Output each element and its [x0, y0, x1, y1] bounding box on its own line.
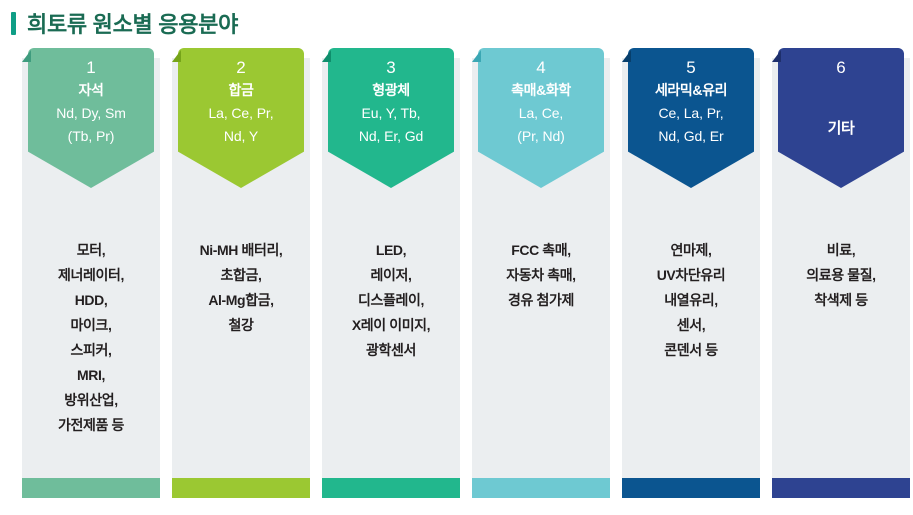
- application-column-1[interactable]: 1자석Nd, Dy, Sm(Tb, Pr)모터,제너레이터,HDD,마이크,스피…: [22, 48, 160, 515]
- column-number: 1: [28, 57, 154, 79]
- application-column-3[interactable]: 3형광체Eu, Y, Tb,Nd, Er, GdLED,레이저,디스플레이,X레…: [322, 48, 460, 515]
- page-title: 희토류 원소별 응용분야: [27, 7, 238, 39]
- list-item: 디스플레이,: [322, 288, 460, 313]
- column-category-label: 촉매&화학: [478, 79, 604, 102]
- column-number: 4: [478, 57, 604, 79]
- column-item-list: Ni-MH 배터리,초합금,Al-Mg합금,철강: [172, 238, 310, 338]
- list-item: 방위산업,: [22, 388, 160, 413]
- column-element-line: Nd, Er, Gd: [328, 125, 454, 148]
- column-number: 6: [778, 57, 904, 79]
- column-footer-bar: [22, 478, 160, 498]
- column-item-list: LED,레이저,디스플레이,X레이 이미지,광학센서: [322, 238, 460, 363]
- column-item-list: 비료,의료용 물질,착색제 등: [772, 238, 910, 313]
- list-item: 마이크,: [22, 313, 160, 338]
- column-number: 5: [628, 57, 754, 79]
- list-item: HDD,: [22, 288, 160, 313]
- column-footer-bar: [472, 478, 610, 498]
- column-category-label: 자석: [28, 79, 154, 102]
- list-item: Ni-MH 배터리,: [172, 238, 310, 263]
- application-column-5[interactable]: 5세라믹&유리Ce, La, Pr,Nd, Gd, Er연마제,UV차단유리내열…: [622, 48, 760, 515]
- list-item: 내열유리,: [622, 288, 760, 313]
- application-column-6[interactable]: 6기타비료,의료용 물질,착색제 등: [772, 48, 910, 515]
- list-item: FCC 촉매,: [472, 238, 610, 263]
- list-item: 비료,: [772, 238, 910, 263]
- list-item: 착색제 등: [772, 288, 910, 313]
- list-item: 초합금,: [172, 263, 310, 288]
- list-item: LED,: [322, 238, 460, 263]
- application-column-2[interactable]: 2합금La, Ce, Pr,Nd, YNi-MH 배터리,초합금,Al-Mg합금…: [172, 48, 310, 515]
- list-item: 광학센서: [322, 338, 460, 363]
- list-item: UV차단유리: [622, 263, 760, 288]
- column-number: 3: [328, 57, 454, 79]
- column-item-list: 연마제,UV차단유리내열유리,센서,콘덴서 등: [622, 238, 760, 363]
- column-element-line: La, Ce, Pr,: [178, 102, 304, 125]
- list-item: 자동차 촉매,: [472, 263, 610, 288]
- column-category-label: 기타: [778, 117, 904, 140]
- list-item: 연마제,: [622, 238, 760, 263]
- column-element-line: Nd, Dy, Sm: [28, 102, 154, 125]
- list-item: 제너레이터,: [22, 263, 160, 288]
- column-footer-bar: [172, 478, 310, 498]
- column-footer-bar: [322, 478, 460, 498]
- column-element-line: (Tb, Pr): [28, 125, 154, 148]
- column-footer-bar: [622, 478, 760, 498]
- column-item-list: FCC 촉매,자동차 촉매,경유 첨가제: [472, 238, 610, 313]
- column-element-line: (Pr, Nd): [478, 125, 604, 148]
- column-element-line: Eu, Y, Tb,: [328, 102, 454, 125]
- list-item: 의료용 물질,: [772, 263, 910, 288]
- column-element-line: Ce, La, Pr,: [628, 102, 754, 125]
- list-item: Al-Mg합금,: [172, 288, 310, 313]
- list-item: 모터,: [22, 238, 160, 263]
- title-accent-bar: [11, 12, 16, 35]
- list-item: X레이 이미지,: [322, 313, 460, 338]
- list-item: 가전제품 등: [22, 413, 160, 438]
- column-item-list: 모터,제너레이터,HDD,마이크,스피커,MRI,방위산업,가전제품 등: [22, 238, 160, 438]
- list-item: 레이저,: [322, 263, 460, 288]
- page-title-row: 희토류 원소별 응용분야: [0, 0, 913, 46]
- application-column-4[interactable]: 4촉매&화학La, Ce,(Pr, Nd)FCC 촉매,자동차 촉매,경유 첨가…: [472, 48, 610, 515]
- list-item: 콘덴서 등: [622, 338, 760, 363]
- column-category-label: 형광체: [328, 79, 454, 102]
- list-item: 철강: [172, 313, 310, 338]
- list-item: 센서,: [622, 313, 760, 338]
- column-footer-bar: [772, 478, 910, 498]
- column-category-label: 세라믹&유리: [628, 79, 754, 102]
- column-number: 2: [178, 57, 304, 79]
- column-element-line: La, Ce,: [478, 102, 604, 125]
- list-item: MRI,: [22, 363, 160, 388]
- column-category-label: 합금: [178, 79, 304, 102]
- application-columns: 1자석Nd, Dy, Sm(Tb, Pr)모터,제너레이터,HDD,마이크,스피…: [0, 48, 913, 515]
- list-item: 스피커,: [22, 338, 160, 363]
- list-item: 경유 첨가제: [472, 288, 610, 313]
- column-element-line: Nd, Y: [178, 125, 304, 148]
- column-element-line: Nd, Gd, Er: [628, 125, 754, 148]
